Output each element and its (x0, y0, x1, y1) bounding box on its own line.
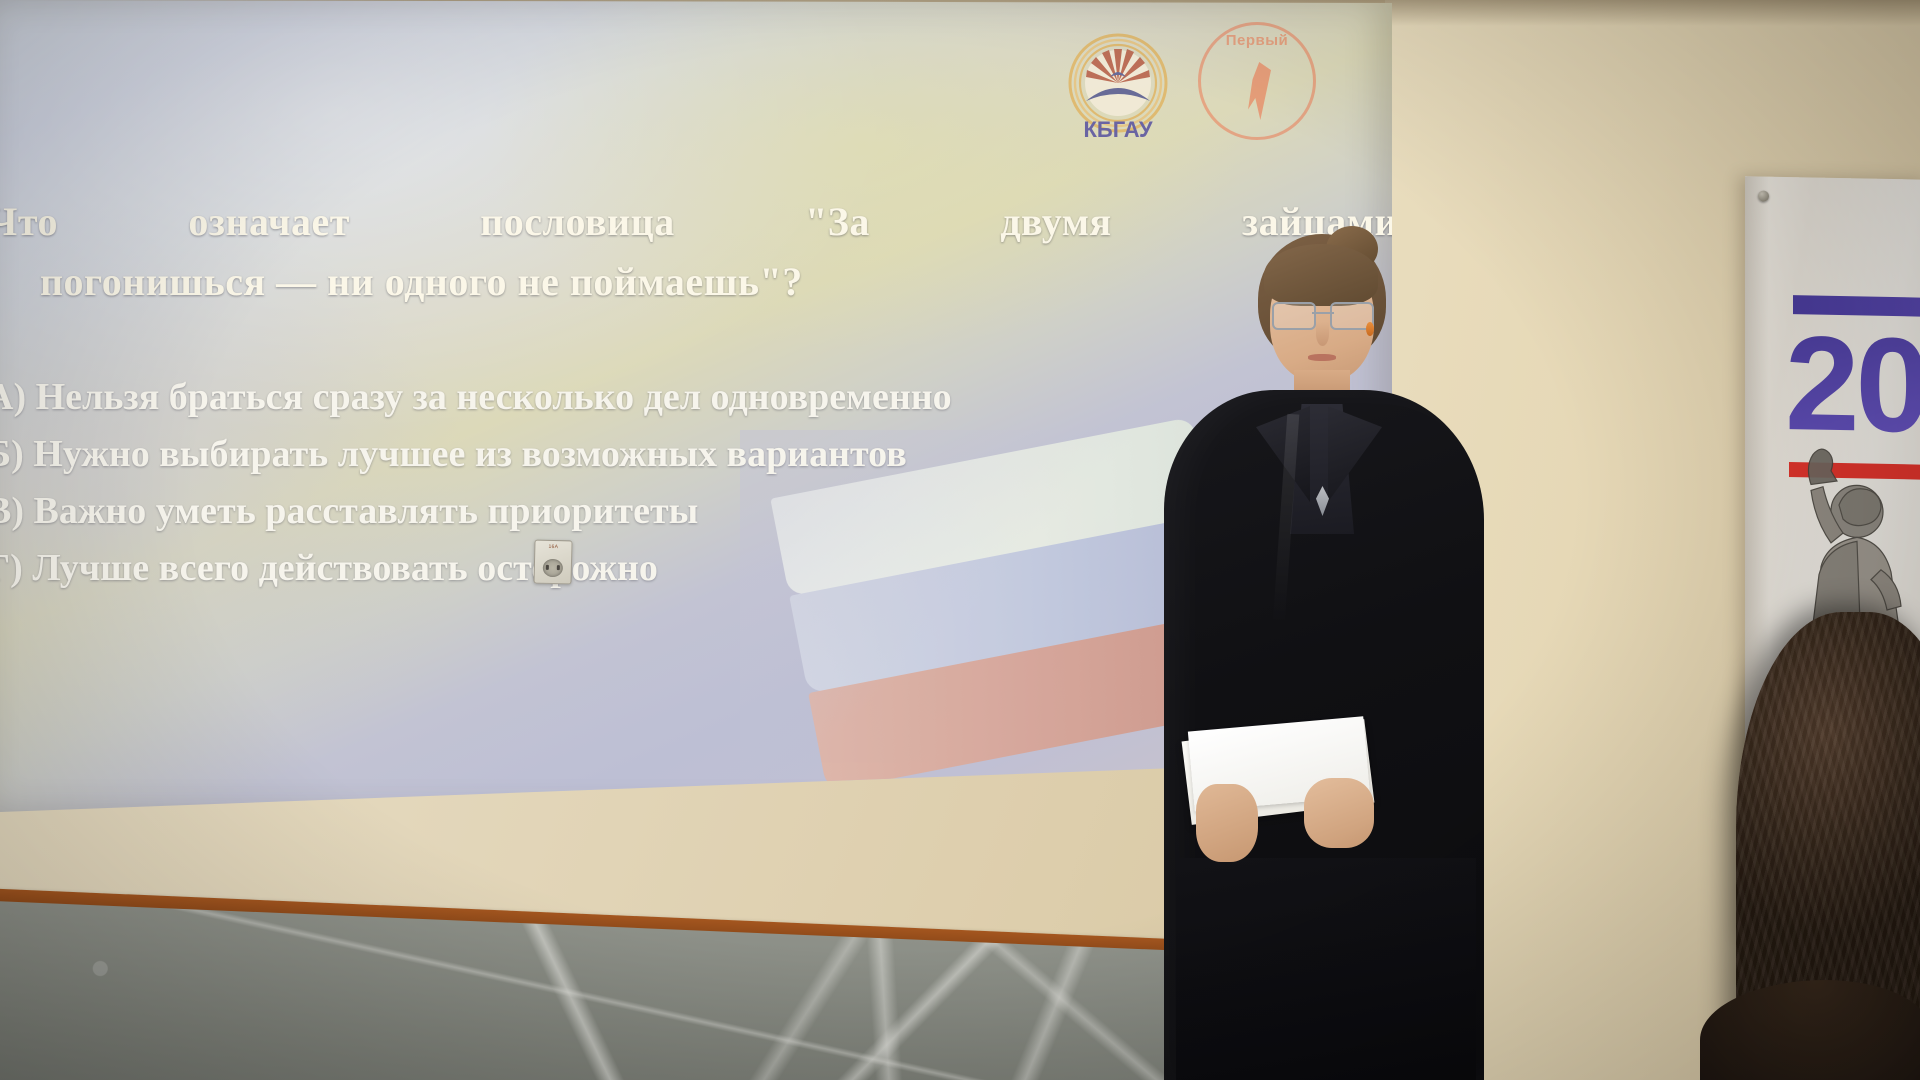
question-word: пословица (480, 198, 674, 245)
answer-option-a: А) Нельзя браться сразу за несколько дел… (0, 375, 952, 419)
presenter-eyeglasses (1272, 302, 1374, 328)
answer-option-b: Б) Нужно выбирать лучшее из возможных ва… (0, 432, 907, 476)
presenter-person (1130, 218, 1550, 1080)
presenter-hand-right (1304, 778, 1374, 848)
answer-option-c: В) Важно уметь расставлять приоритеты (0, 489, 698, 533)
eyeglass-lens-left (1272, 302, 1316, 330)
presenter-mouth (1308, 354, 1336, 361)
power-outlet-label: 16A (535, 544, 571, 551)
photo-scene: КБГАУ Первый Что означает пословица "За … (0, 0, 1920, 1080)
eyeglass-bridge (1312, 312, 1334, 314)
banner-grommet (1758, 190, 1769, 201)
question-line-2: погонишься — ни одного не поймаешь"? (40, 258, 803, 305)
question-word: "За (805, 198, 870, 245)
presenter-hair-front (1264, 244, 1378, 306)
power-outlet-socket-hole (543, 559, 563, 578)
power-outlet: 16A (533, 540, 572, 585)
question-word: двумя (1000, 198, 1111, 245)
presenter-skirt (1176, 858, 1476, 1080)
presenter-hand-left (1196, 784, 1258, 862)
presenter-earring (1366, 322, 1374, 336)
question-word: Что (0, 198, 58, 245)
question-word: означает (188, 198, 349, 245)
